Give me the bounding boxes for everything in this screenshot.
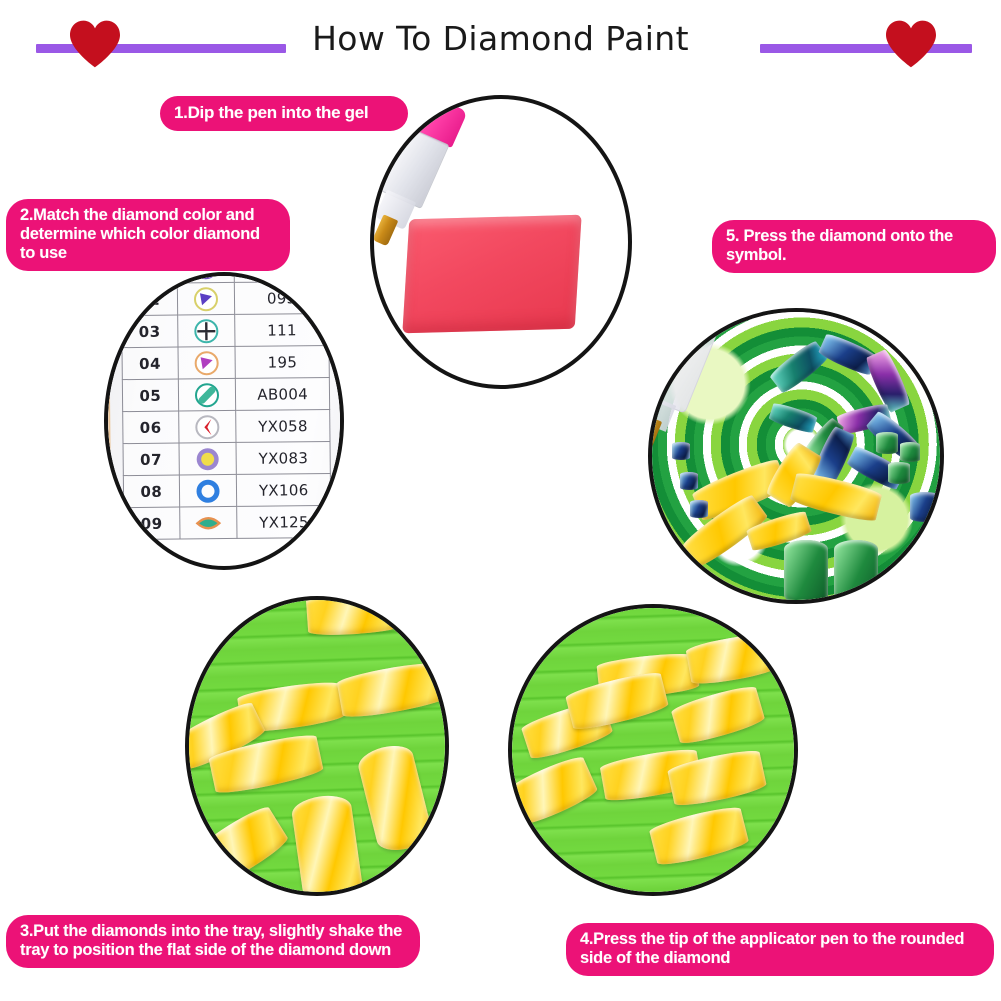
chart-code-cell: 02	[121, 283, 177, 316]
color-chart-row: 08YX106	[123, 473, 330, 507]
pen-tip	[374, 214, 398, 246]
filled-dot-icon	[179, 442, 237, 475]
left-arrow-icon	[178, 410, 236, 443]
chart-dmc-cell: YX125	[237, 505, 331, 538]
color-chart-row: 05AB004	[122, 377, 329, 411]
round-diamond	[680, 472, 698, 490]
step-5-label: 5. Press the diamond onto the symbol.	[712, 220, 996, 273]
step-4-label: 4.Press the tip of the applicator pen to…	[566, 923, 994, 976]
color-chart-row: 04195	[122, 345, 329, 379]
color-chart-sheet: 0102002093031110419505AB00406YX05807YX08…	[108, 276, 340, 541]
chart-dmc-cell: AB004	[236, 377, 330, 410]
color-chart-row: 06YX058	[123, 409, 330, 443]
chart-dmc-cell: 111	[235, 313, 329, 346]
chart-dmc-cell: YX083	[236, 441, 330, 474]
round-diamond	[876, 432, 898, 454]
round-diamond	[900, 442, 920, 462]
marquise-diamond	[834, 540, 878, 600]
chart-code-cell: 05	[122, 379, 178, 412]
round-diamond	[672, 442, 690, 460]
step-1-label: 1.Dip the pen into the gel	[160, 96, 408, 131]
color-chart-table: 0102002093031110419505AB00406YX05807YX08…	[120, 276, 331, 540]
chart-code-cell: 08	[123, 475, 179, 508]
marquise-diamond	[784, 540, 828, 600]
chart-dmc-cell: YX058	[236, 409, 330, 442]
photo-color-chart-legend: 0102002093031110419505AB00406YX05807YX08…	[104, 272, 344, 570]
chart-code-cell: 07	[123, 443, 179, 476]
photo-placing-diamond-on-canvas	[648, 308, 944, 604]
color-chart-row: 02093	[121, 281, 328, 315]
chart-dmc-cell: 195	[235, 345, 329, 378]
chart-code-cell: 06	[123, 411, 179, 444]
page-title: How To Diamond Paint	[0, 19, 1001, 58]
photo-pen-picking-up-diamond	[508, 604, 798, 896]
filled-triangle-icon	[178, 346, 236, 379]
ring-icon	[179, 474, 237, 507]
step-2-label: 2.Match the diamond color and determine …	[6, 199, 290, 271]
chart-dmc-cell: 093	[235, 281, 329, 314]
chart-code-cell: 04	[122, 347, 178, 380]
color-chart-row: 09YX125	[124, 505, 331, 539]
photo-diamonds-in-green-tray	[185, 596, 449, 896]
color-chart-row: 07YX083	[123, 441, 330, 475]
round-diamond	[888, 462, 910, 484]
plus-cross-icon	[177, 314, 235, 347]
gel-pad	[402, 215, 581, 333]
chart-code-cell: 09	[124, 507, 180, 540]
slash-capsule-icon	[178, 378, 236, 411]
chart-dmc-cell: YX106	[237, 473, 331, 506]
pen-tip	[652, 415, 662, 459]
step-3-label: 3.Put the diamonds into the tray, slight…	[6, 915, 420, 968]
photo-pen-dipping-into-gel	[370, 95, 632, 389]
color-chart-row: 03111	[122, 313, 329, 347]
leaf-marquise-icon	[179, 506, 237, 539]
chart-code-cell: 03	[122, 315, 178, 348]
filled-triangle-icon	[177, 282, 235, 315]
header-band: How To Diamond Paint	[0, 0, 1001, 86]
round-diamond	[910, 492, 940, 522]
round-diamond	[690, 500, 708, 518]
how-to-diamond-paint-infographic: How To Diamond Paint 1.Dip the pen into …	[0, 0, 1001, 1001]
